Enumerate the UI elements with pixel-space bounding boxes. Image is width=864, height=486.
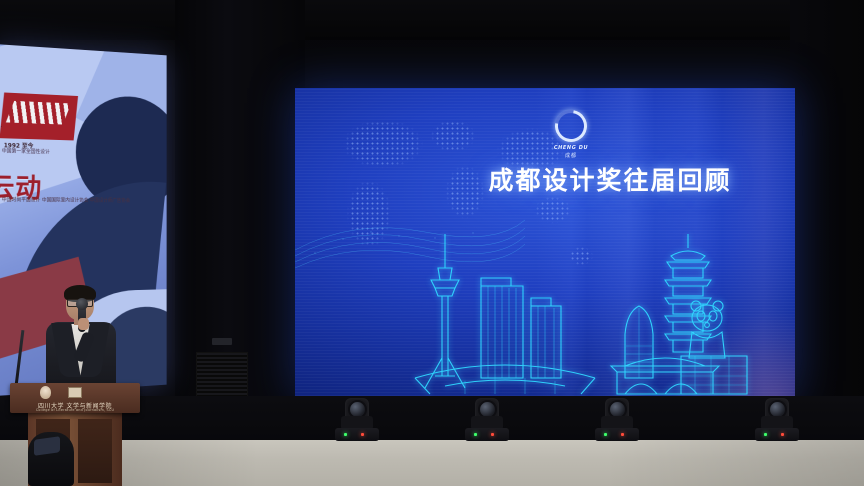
foreground-monitor bbox=[28, 432, 74, 486]
pagoda-icon bbox=[665, 226, 711, 352]
moving-head-light bbox=[465, 396, 509, 448]
led-green-indicator bbox=[764, 433, 767, 436]
lectern-institution-en: College of Literature and Journalism, SC… bbox=[14, 408, 136, 412]
university-crest-icon bbox=[40, 386, 51, 399]
poster-logo-mark bbox=[0, 92, 78, 140]
university-gate-icon bbox=[68, 387, 82, 398]
poster-logo-stripes bbox=[6, 101, 71, 125]
moving-head-light bbox=[595, 396, 639, 448]
led-green-indicator bbox=[474, 433, 477, 436]
stage-scene: 1992 至今 中国第一家全国性设计 云动 中国时尚平面设计 中国国际室内设计协… bbox=[0, 0, 864, 486]
logo-en-text: CHENG DU bbox=[548, 145, 594, 151]
lectern-panel-right bbox=[78, 419, 112, 483]
wall-vent-grille bbox=[196, 352, 248, 398]
slide-headline: 成都设计奖往届回顾 bbox=[445, 168, 775, 193]
main-led-screen: CHENG DU 成都 成都设计奖往届回顾 bbox=[295, 88, 795, 396]
presenter bbox=[42, 288, 120, 388]
light-base bbox=[465, 428, 509, 441]
led-green-indicator bbox=[604, 433, 607, 436]
panda-icon bbox=[689, 301, 725, 358]
ceiling-band bbox=[0, 0, 864, 40]
microphone-head-icon bbox=[76, 298, 88, 310]
lectern-front-plate: 四川大学 文学与新闻学院 College of Literature and J… bbox=[10, 383, 140, 413]
chengdu-skyline-wireframe bbox=[295, 226, 795, 396]
led-red-indicator bbox=[621, 433, 624, 436]
poster-org-lines: 中国时尚平面设计 中国国际室内设计协会 中国设计师广告协会 bbox=[2, 196, 130, 205]
poster-subtitle: 中国第一家全国性设计 bbox=[2, 148, 50, 157]
light-base bbox=[335, 428, 379, 441]
presenter-hand bbox=[78, 318, 89, 330]
ring-icon bbox=[549, 104, 594, 149]
light-base bbox=[755, 428, 799, 441]
equipment-label bbox=[212, 338, 232, 345]
moving-head-light bbox=[755, 396, 799, 448]
light-base bbox=[595, 428, 639, 441]
logo-cn-text: 成都 bbox=[548, 152, 594, 159]
monitor-screen bbox=[34, 436, 60, 456]
led-red-indicator bbox=[781, 433, 784, 436]
led-green-indicator bbox=[344, 433, 347, 436]
led-red-indicator bbox=[361, 433, 364, 436]
wall-right bbox=[790, 0, 864, 420]
chengdu-ring-logo-icon: CHENG DU 成都 bbox=[548, 110, 594, 159]
moving-head-light bbox=[335, 396, 379, 448]
led-red-indicator bbox=[491, 433, 494, 436]
